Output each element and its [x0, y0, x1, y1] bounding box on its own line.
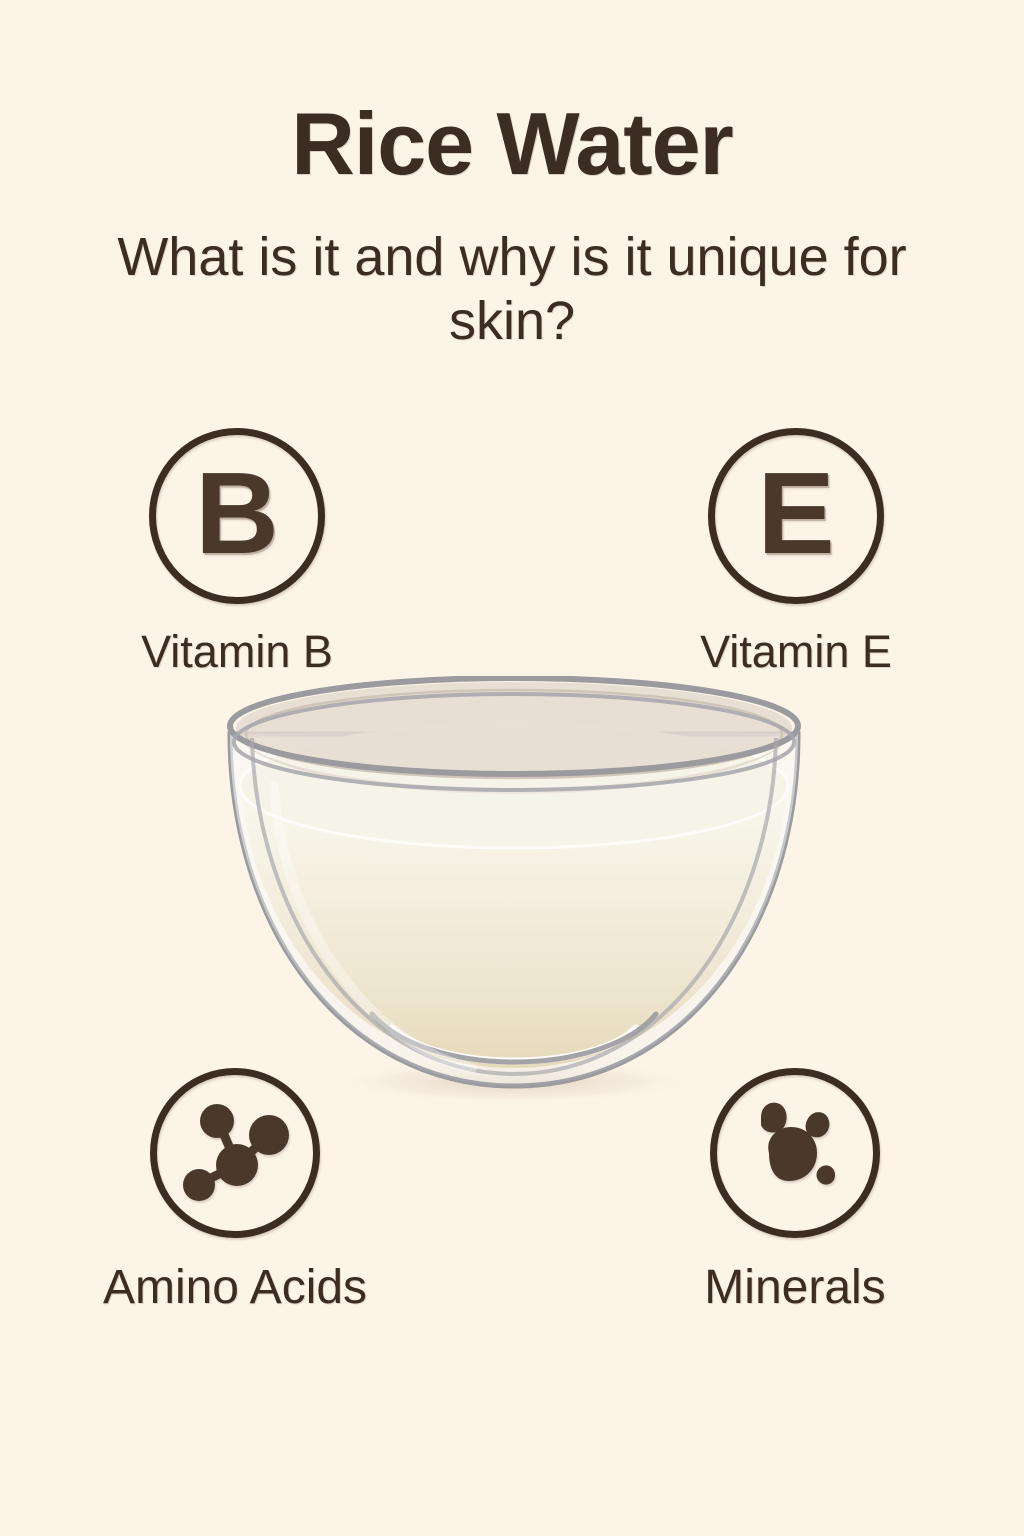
molecule-icon-wrapper [150, 1068, 320, 1238]
page-title: Rice Water [0, 100, 1024, 188]
mineral-stones-icon-wrapper [710, 1068, 880, 1238]
nutrient-badge-amino-acids[interactable]: Amino Acids [85, 1068, 385, 1315]
nutrient-badge-vitamin-e[interactable]: E Vitamin E [646, 428, 946, 678]
letter-e-icon: E [708, 428, 884, 604]
page-subtitle: What is it and why is it unique for skin… [0, 226, 1024, 353]
molecule-icon [175, 1093, 295, 1213]
nutrient-badge-vitamin-b[interactable]: B Vitamin B [87, 428, 387, 678]
letter-b-icon: B [149, 428, 325, 604]
nutrient-label-amino-acids: Amino Acids [85, 1260, 385, 1315]
rice-water-bowl-illustration [222, 676, 806, 1106]
badge-letter: E [757, 455, 834, 571]
header: Rice Water What is it and why is it uniq… [0, 0, 1024, 353]
nutrient-label-vitamin-b: Vitamin B [87, 626, 387, 678]
badge-letter: B [195, 455, 279, 571]
nutrient-badge-minerals[interactable]: Minerals [645, 1068, 945, 1315]
mineral-stones-icon [735, 1093, 855, 1213]
nutrient-label-vitamin-e: Vitamin E [646, 626, 946, 678]
nutrient-label-minerals: Minerals [645, 1260, 945, 1315]
